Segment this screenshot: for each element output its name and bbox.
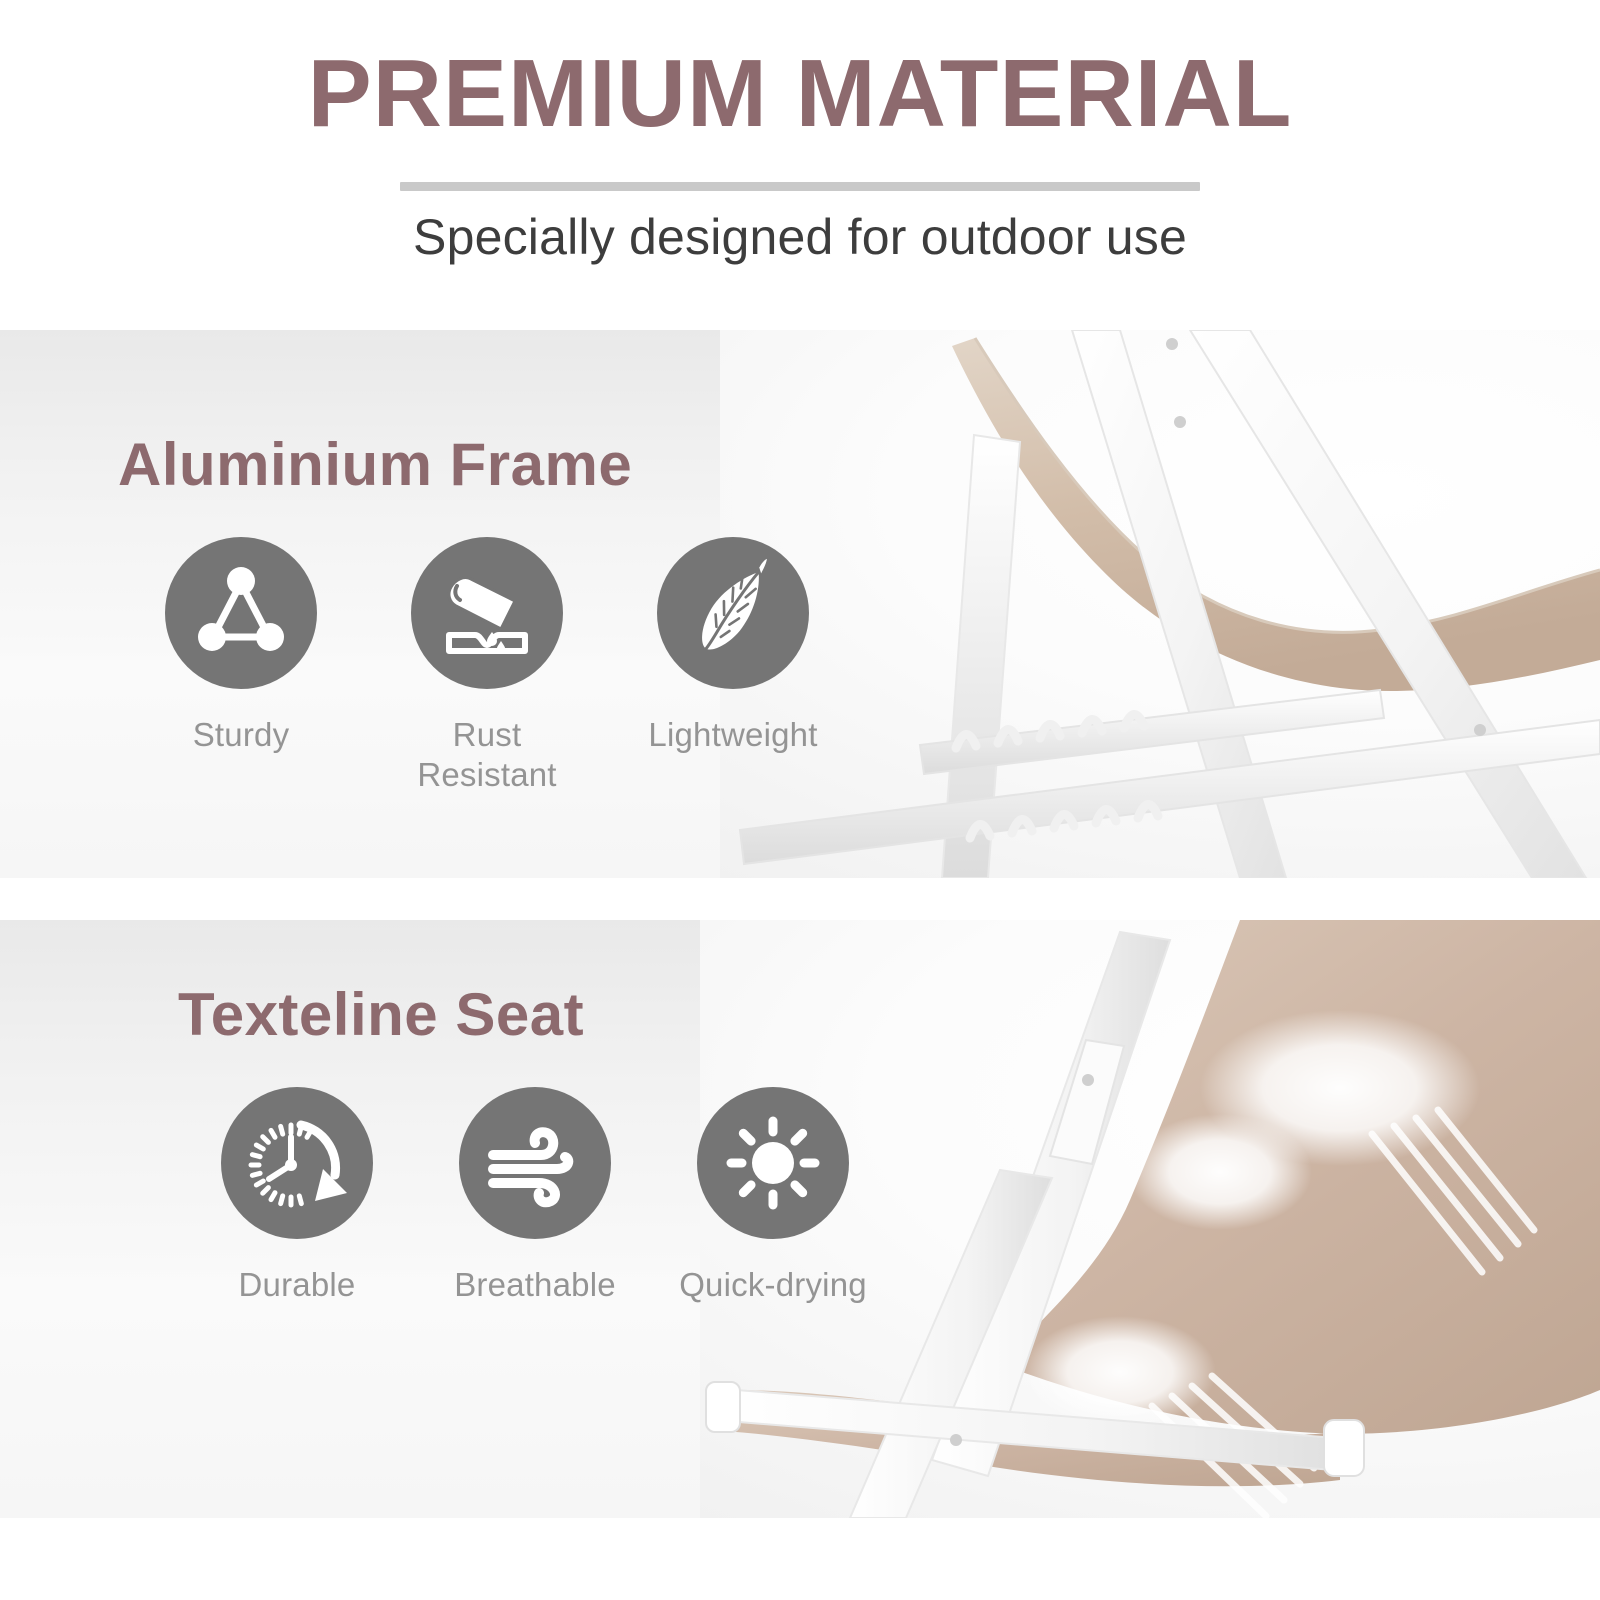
feather-icon — [657, 537, 809, 689]
section-title-texteline: Texteline Seat — [178, 980, 892, 1049]
feature-lightweight: Lightweight — [610, 537, 856, 796]
feature-breathable: Breathable — [416, 1087, 654, 1305]
feature-sturdy: Sturdy — [118, 537, 364, 796]
feature-icon-row-texteline: Durable — [178, 1087, 892, 1305]
wind-icon — [459, 1087, 611, 1239]
infographic-page: PREMIUM MATERIAL Specially designed for … — [0, 0, 1600, 1600]
rust-label-line2: Resistant — [417, 756, 556, 793]
feature-block-texteline: Texteline Seat — [178, 980, 892, 1305]
feature-label-lightweight: Lightweight — [648, 715, 817, 755]
page-subtitle: Specially designed for outdoor use — [0, 208, 1600, 266]
sun-icon — [697, 1087, 849, 1239]
section-aluminium-frame: Aluminium Frame Sturdy — [0, 330, 1600, 878]
feature-rust-resistant: Rust Resistant — [364, 537, 610, 796]
feature-label-sturdy: Sturdy — [193, 715, 290, 755]
feature-durable: Durable — [178, 1087, 416, 1305]
rust-label-line1: Rust — [453, 716, 522, 753]
corrosion-drop-icon — [411, 537, 563, 689]
section-title-aluminium: Aluminium Frame — [118, 430, 856, 499]
header: PREMIUM MATERIAL Specially designed for … — [0, 0, 1600, 330]
feature-quick-drying: Quick-drying — [654, 1087, 892, 1305]
clock-arrow-icon — [221, 1087, 373, 1239]
feature-label-rust-resistant: Rust Resistant — [417, 715, 556, 796]
page-title: PREMIUM MATERIAL — [0, 44, 1600, 145]
triangle-nodes-icon — [165, 537, 317, 689]
feature-block-aluminium: Aluminium Frame Sturdy — [118, 430, 856, 796]
feature-label-durable: Durable — [239, 1265, 356, 1305]
feature-label-breathable: Breathable — [454, 1265, 616, 1305]
title-divider — [400, 182, 1200, 191]
feature-icon-row-aluminium: Sturdy — [118, 537, 856, 796]
section-texteline-seat: Texteline Seat — [0, 920, 1600, 1518]
feature-label-quick-drying: Quick-drying — [679, 1265, 867, 1305]
